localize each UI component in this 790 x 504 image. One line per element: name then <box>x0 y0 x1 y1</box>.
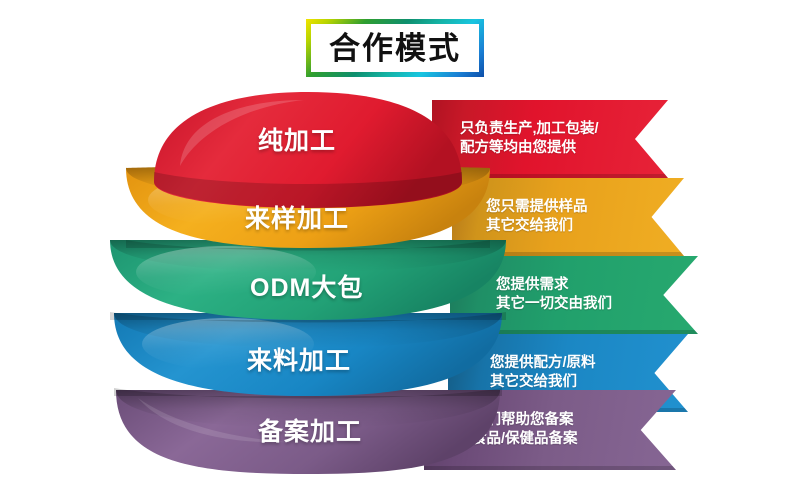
callout-line-2: 其它交给我们 <box>486 217 684 236</box>
callout-line-1: 您提供配方/原料 <box>490 354 688 373</box>
infographic-canvas: 合作模式 只负责生产,加工包装/ 配方等均由您提供 您只需提供样品 其它交给我们… <box>0 0 790 504</box>
title-inner: 合作模式 <box>311 24 479 72</box>
title-frame: 合作模式 <box>306 19 484 77</box>
segment-label-odm-full-package: ODM大包 <box>250 268 363 304</box>
segment-label-material-processing: 来料加工 <box>247 341 351 377</box>
segment-label-filing-processing: 备案加工 <box>258 412 362 448</box>
callout-line-1: 您只需提供样品 <box>486 198 684 217</box>
segment-label-pure-processing: 纯加工 <box>258 121 336 157</box>
callout-line-2: 其它交给我们 <box>490 373 688 392</box>
page-title: 合作模式 <box>329 33 461 64</box>
callout-line-2: 其它一切交由我们 <box>496 295 698 314</box>
segment-label-sample-processing: 来样加工 <box>245 199 349 235</box>
callout-line-1: 您提供需求 <box>496 276 698 295</box>
